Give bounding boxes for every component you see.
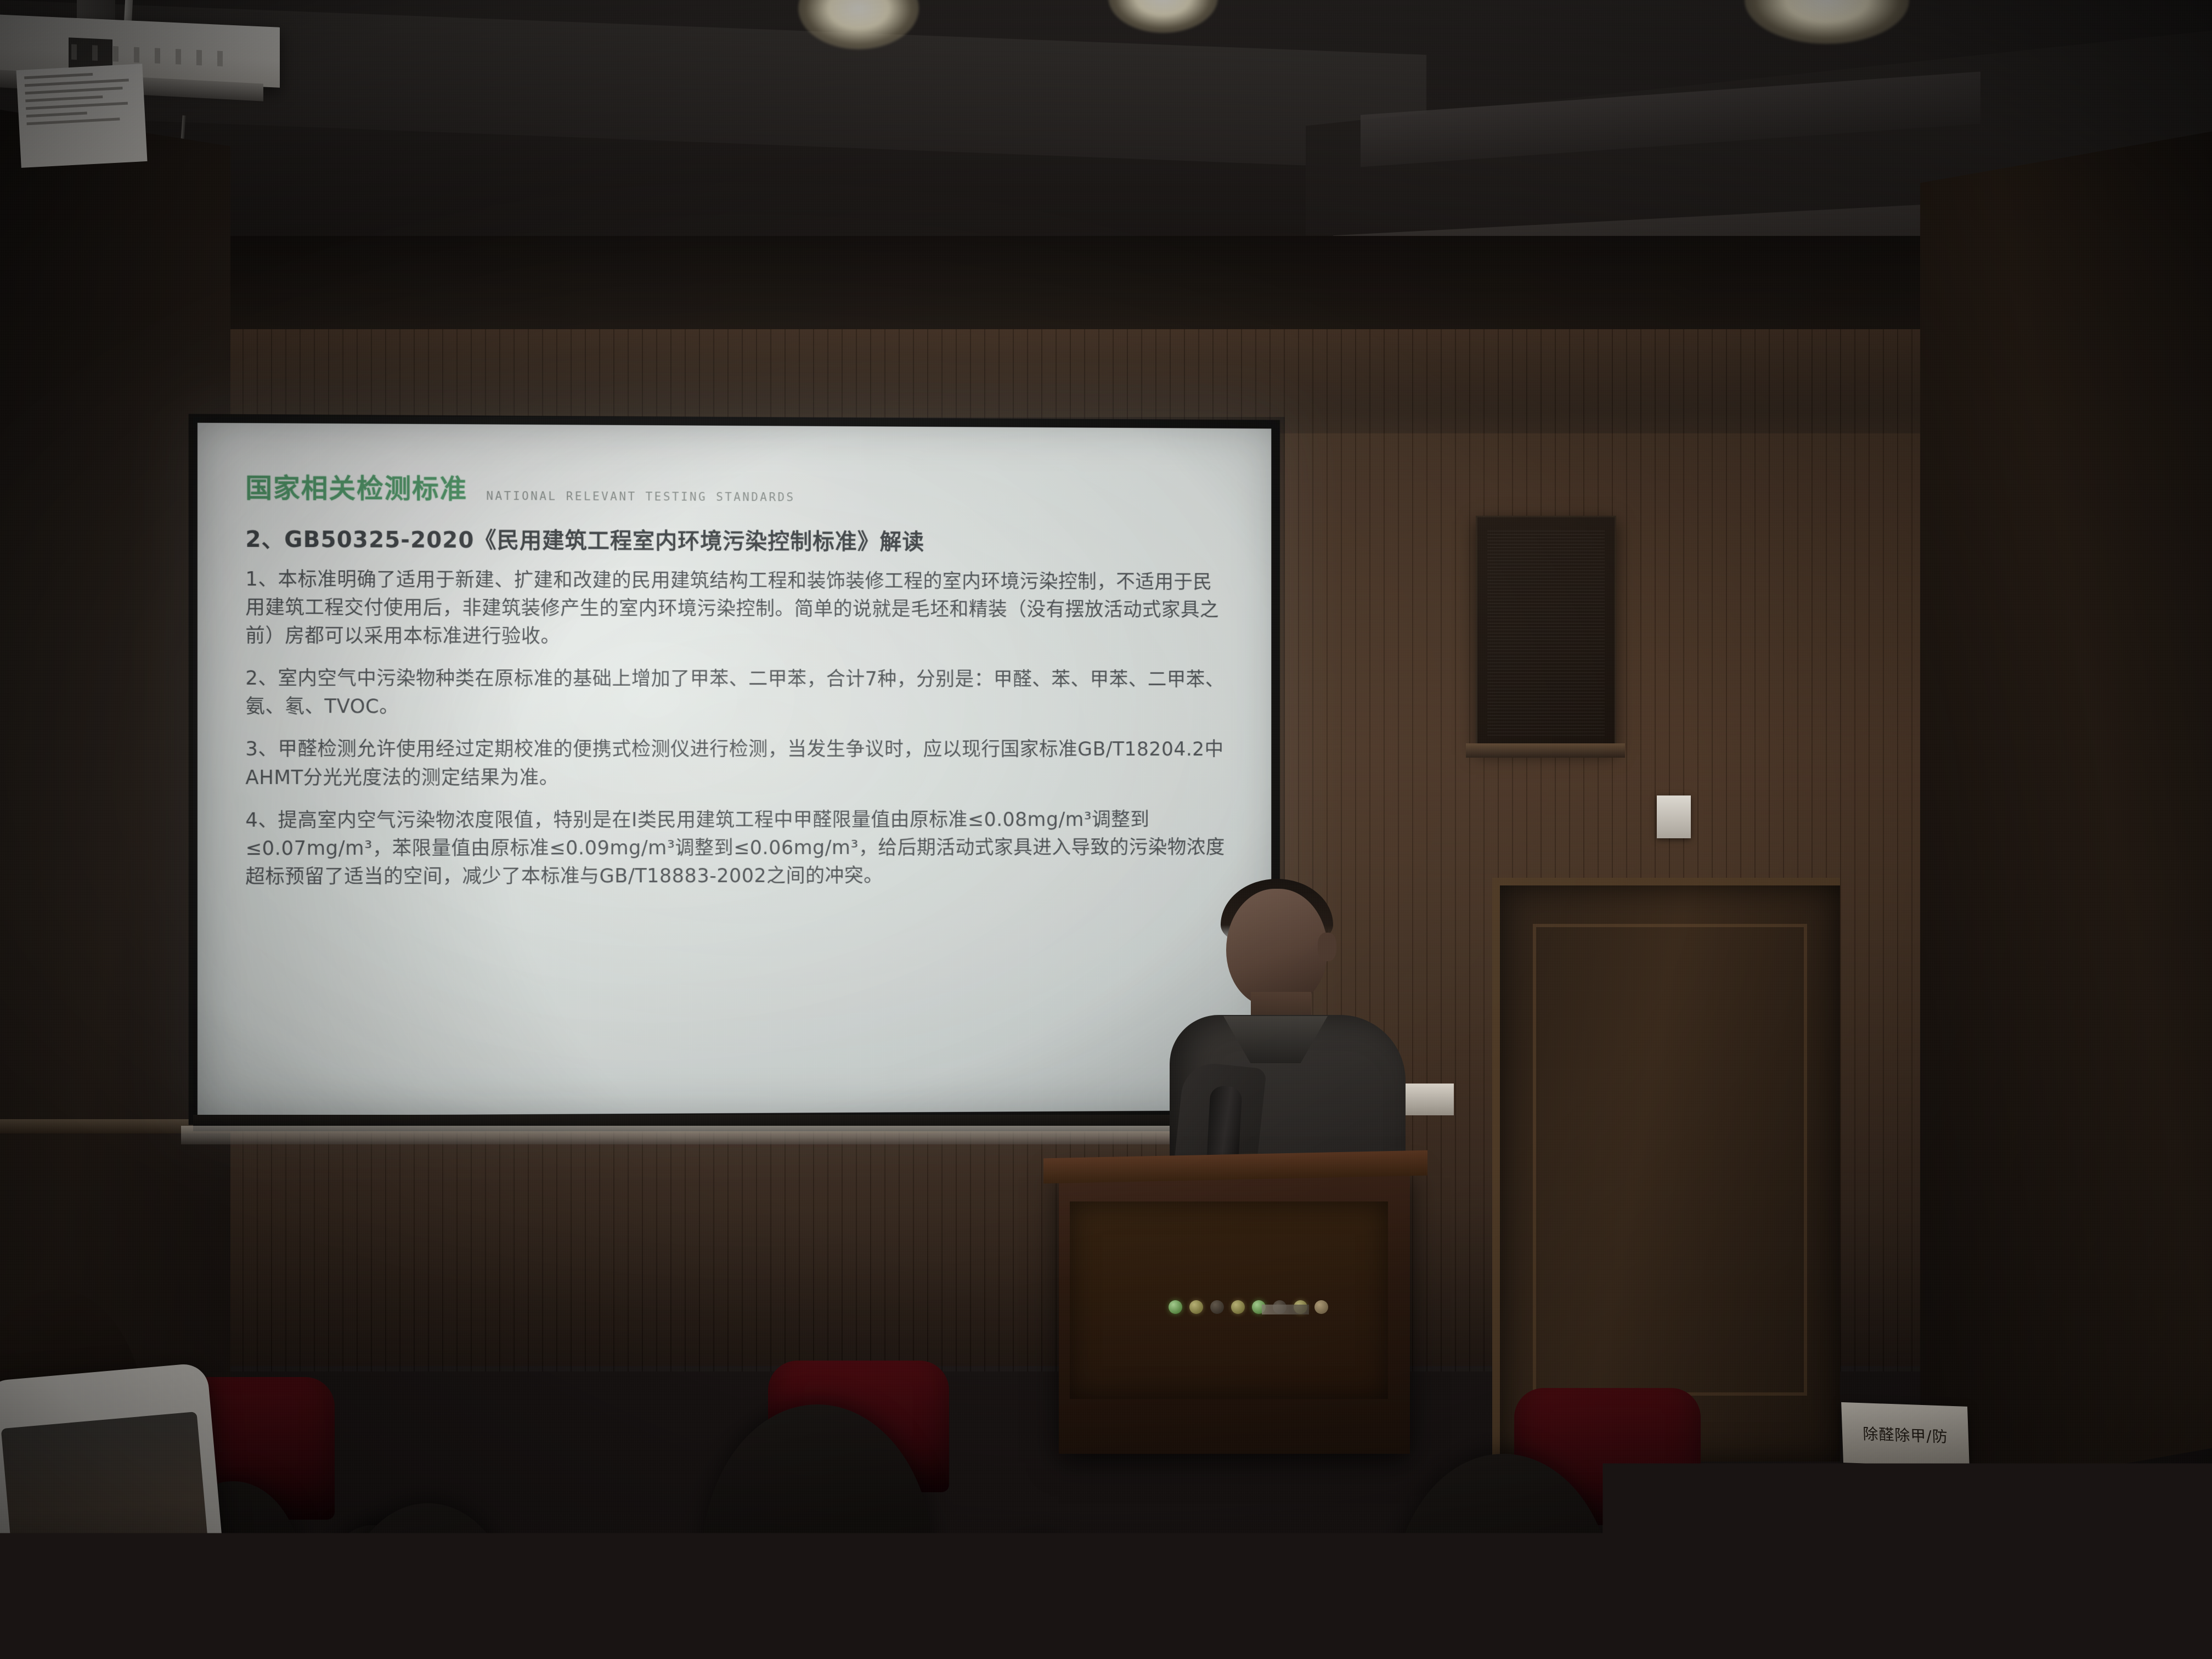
text-line — [25, 87, 123, 94]
text-line — [27, 117, 120, 125]
speaker-shelf — [1466, 743, 1625, 758]
wall-speaker-icon — [1476, 516, 1616, 749]
presenter-ear — [1318, 933, 1336, 961]
seat — [1031, 1580, 1361, 1659]
slide-paragraph: 4、提高室内空气污染物浓度限值，特别是在Ⅰ类民用建筑工程中甲醛限量值由原标准≤0… — [245, 806, 1226, 891]
text-line — [25, 95, 103, 102]
ceiling-light — [1108, 0, 1218, 33]
seat — [1745, 1558, 2096, 1659]
slide-body: 1、本标准明确了适用于新建、扩建和改建的民用建筑结构工程和装饰装修工程的室内环境… — [245, 566, 1226, 891]
presenter-head — [1226, 889, 1328, 1007]
lecture-hall-photo: 国家相关检测标准 NATIONAL RELEVANT TESTING STAND… — [0, 0, 2212, 1659]
screen-bottom-trim — [181, 1126, 1300, 1144]
audience-area — [0, 1196, 2212, 1659]
phone-content-card — [16, 64, 147, 168]
slide-paragraph: 1、本标准明确了适用于新建、扩建和改建的民用建筑结构工程和装饰装修工程的室内环境… — [245, 566, 1226, 652]
text-line — [25, 78, 129, 87]
slide-header-en: NATIONAL RELEVANT TESTING STANDARDS — [486, 489, 795, 507]
slide-header: 国家相关检测标准 NATIONAL RELEVANT TESTING STAND… — [245, 466, 1226, 509]
slide-paragraph: 3、甲醛检测允许使用经过定期校准的便携式检测仪进行检测，当发生争议时，应以现行国… — [245, 736, 1226, 792]
slide-title: 2、GB50325-2020《民用建筑工程室内环境污染控制标准》解读 — [245, 521, 1226, 557]
slide: 国家相关检测标准 NATIONAL RELEVANT TESTING STAND… — [198, 423, 1271, 1116]
text-line — [24, 73, 93, 80]
slide-paragraph: 2、室内空气中污染物种类在原标准的基础上增加了甲苯、二甲苯，合计7种，分别是：甲… — [245, 665, 1226, 722]
slide-header-cn: 国家相关检测标准 — [245, 466, 467, 506]
text-line — [26, 111, 87, 117]
ceiling-light — [1745, 0, 1909, 44]
seat — [516, 1602, 823, 1659]
projection-screen: 国家相关检测标准 NATIONAL RELEVANT TESTING STAND… — [189, 414, 1280, 1125]
light-switch-icon[interactable] — [1657, 795, 1691, 838]
text-line — [26, 102, 128, 110]
